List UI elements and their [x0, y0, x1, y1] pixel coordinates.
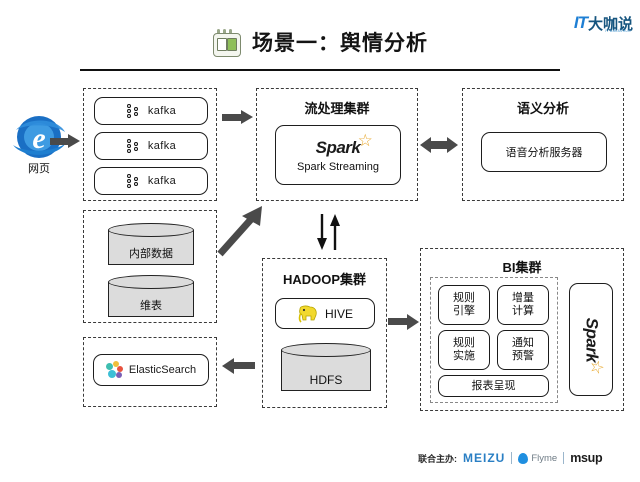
kafka-node-2[interactable]: kafka [94, 132, 208, 160]
bi-cell-line1: 规则 [453, 337, 475, 350]
source-label: 网页 [8, 160, 70, 176]
bi-cell-line1: 通知 [512, 337, 534, 350]
hdfs-cylinder[interactable]: HDFS [281, 343, 371, 391]
svg-text:e: e [32, 122, 45, 155]
elasticsearch-node[interactable]: ElasticSearch [93, 354, 209, 386]
footer-prefix: 联合主办: [418, 452, 457, 465]
arrow-web-to-kafka [50, 134, 80, 148]
stream-cluster-group: 流处理集群 Spark ☆ Spark Streaming [256, 88, 418, 201]
arrow-hadoop-to-elasticsearch [222, 358, 256, 374]
kafka-label: kafka [148, 175, 176, 187]
voice-analysis-server-node[interactable]: 语音分析服务器 [481, 132, 607, 172]
bi-cell-rule-engine[interactable]: 规则 引擎 [438, 285, 490, 325]
kafka-label: kafka [148, 105, 176, 117]
diagram-canvas: IT 大咖说 IT DAKASHUO 场景一：舆情分析 e 网页 [0, 0, 640, 482]
arrow-stream-to-semantic [420, 137, 458, 153]
bi-cell-line2: 计算 [512, 305, 534, 318]
dimension-table-label: 维表 [108, 297, 194, 313]
dimension-table-cylinder[interactable]: 维表 [108, 275, 194, 317]
arrow-hadoop-to-bi [388, 314, 420, 330]
footer-divider [511, 452, 512, 464]
elasticsearch-group: ElasticSearch [83, 337, 217, 407]
kafka-node-3[interactable]: kafka [94, 167, 208, 195]
hdfs-label: HDFS [281, 373, 371, 387]
voice-analysis-server-label: 语音分析服务器 [506, 144, 583, 160]
bi-cell-line1: 规则 [453, 292, 475, 305]
bi-cluster-group: BI集群 规则 引擎 增量 计算 规则 实施 通知 预警 报表呈现 [420, 248, 624, 411]
page-title-row: 场景一：舆情分析 [0, 24, 640, 60]
arrow-kafka-to-stream [222, 110, 254, 124]
bi-cell-rule-execution[interactable]: 规则 实施 [438, 330, 490, 370]
sponsor-flyme: Flyme [531, 453, 557, 464]
calendar-icon [212, 29, 240, 56]
semantic-analysis-group: 语义分析 语音分析服务器 [462, 88, 624, 201]
kafka-icon [126, 173, 141, 189]
internal-data-label: 内部数据 [108, 245, 194, 261]
spark-star-icon: ☆ [358, 131, 373, 151]
bi-cell-report-presentation[interactable]: 报表呈现 [438, 375, 549, 397]
semantic-analysis-title: 语义分析 [463, 98, 623, 117]
kafka-group: kafka kafka kafka [83, 88, 217, 201]
kafka-node-1[interactable]: kafka [94, 97, 208, 125]
bi-cell-line2: 预警 [512, 350, 534, 363]
bi-cluster-title: BI集群 [421, 257, 623, 276]
footer-sponsors: 联合主办: MEIZU Flyme msup [418, 448, 632, 468]
bi-spark-node[interactable]: Spark ☆ [569, 283, 613, 396]
hadoop-cluster-group: HADOOP集群 HIVE HDFS [262, 258, 387, 408]
elasticsearch-label: ElasticSearch [129, 364, 196, 376]
bi-cell-incremental-compute[interactable]: 增量 计算 [497, 285, 549, 325]
spark-logo-text: Spark [581, 317, 601, 362]
spark-star-icon: ☆ [586, 359, 606, 374]
spark-streaming-node[interactable]: Spark ☆ Spark Streaming [275, 125, 401, 185]
bi-cell-notification-alert[interactable]: 通知 预警 [497, 330, 549, 370]
arrow-storage-to-stream [214, 198, 270, 260]
page-title: 场景一：舆情分析 [252, 27, 428, 57]
hive-icon [297, 304, 319, 324]
internal-data-cylinder[interactable]: 内部数据 [108, 223, 194, 265]
title-divider [80, 69, 560, 71]
arrow-stream-hadoop [316, 212, 342, 252]
stream-cluster-title: 流处理集群 [257, 98, 417, 117]
sponsor-msup: msup [570, 451, 602, 465]
kafka-icon [126, 103, 141, 119]
elasticsearch-icon [106, 361, 124, 379]
footer-divider [563, 452, 564, 464]
bi-cell-line1: 增量 [512, 292, 534, 305]
internal-data-group: 内部数据 维表 [83, 210, 217, 323]
hive-label: HIVE [325, 307, 353, 321]
kafka-label: kafka [148, 140, 176, 152]
bi-modules-group: 规则 引擎 增量 计算 规则 实施 通知 预警 报表呈现 [430, 277, 558, 403]
kafka-icon [126, 138, 141, 154]
spark-streaming-label: Spark Streaming [297, 161, 379, 173]
bi-cell-line2: 实施 [453, 350, 475, 363]
hive-node[interactable]: HIVE [275, 298, 375, 329]
hadoop-cluster-title: HADOOP集群 [263, 269, 386, 288]
spark-logo-text: Spark [316, 138, 361, 158]
bi-report-label: 报表呈现 [472, 380, 516, 393]
bi-cell-line2: 引擎 [453, 305, 475, 318]
sponsor-meizu: MEIZU [463, 451, 505, 465]
flyme-icon [518, 453, 528, 464]
